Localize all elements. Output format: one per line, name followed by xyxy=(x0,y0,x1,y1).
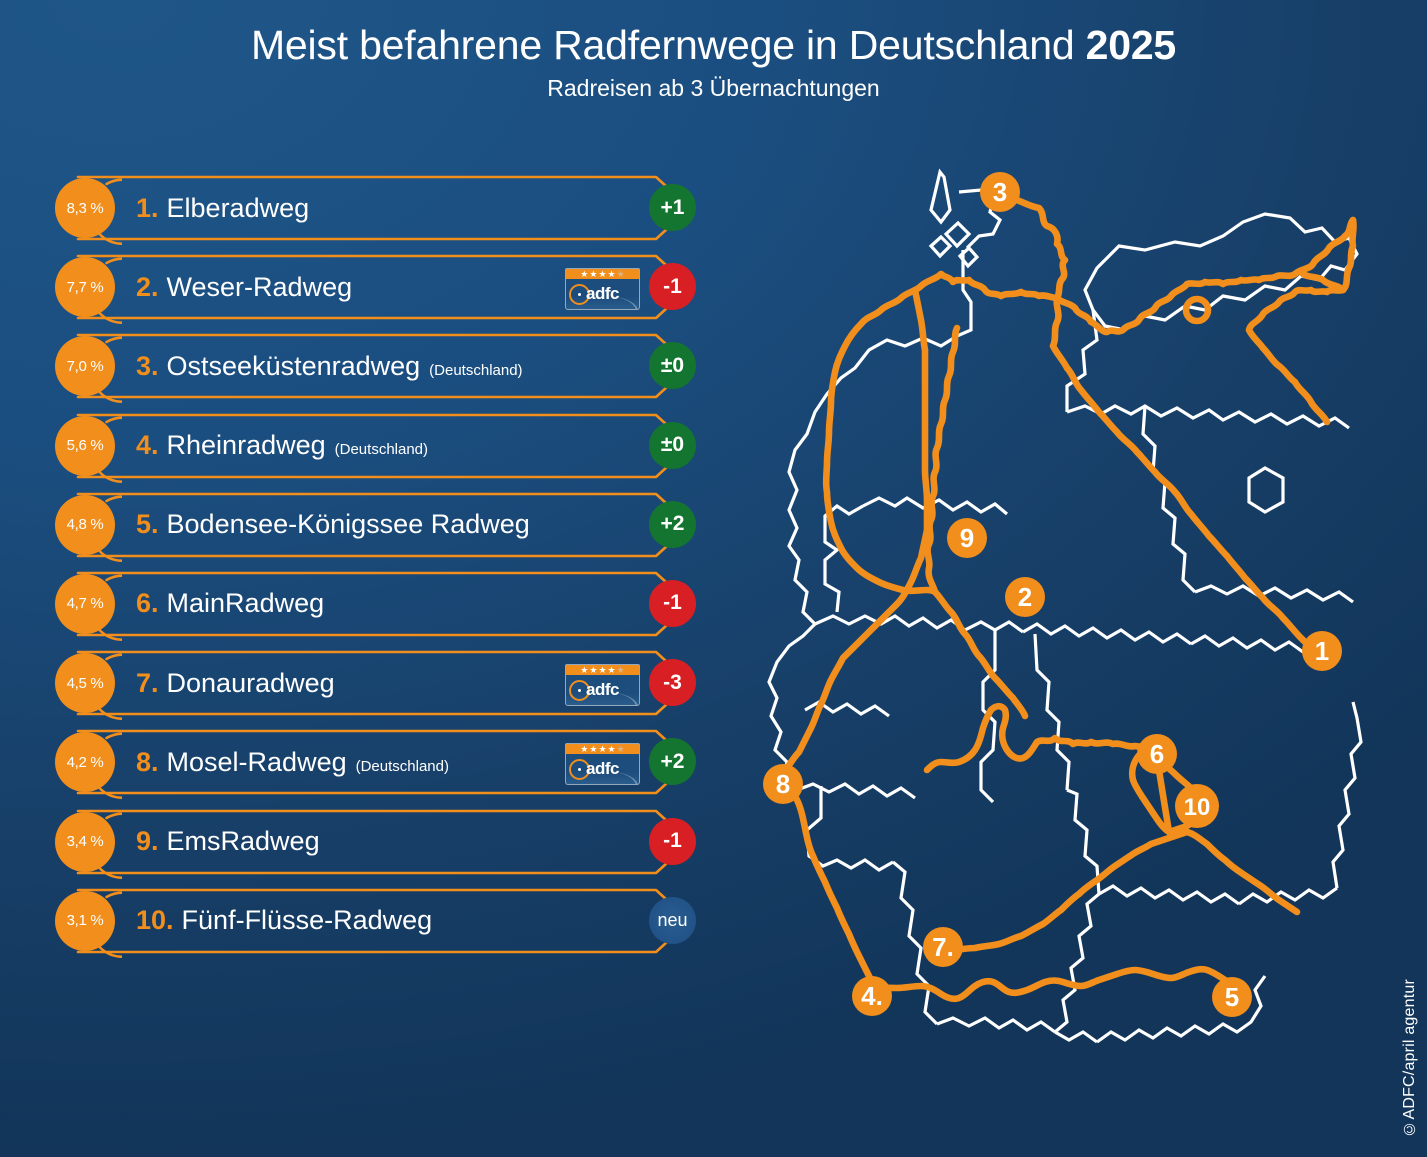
star-icon: ★ xyxy=(617,270,625,279)
rank-number: 9. xyxy=(136,826,159,857)
ranking-row: 4,5 %7.Donauradweg★★★★★adfc-3 xyxy=(48,649,748,717)
star-icon: ★ xyxy=(580,666,588,675)
ranking-row: 3,1 %10.Fünf-Flüsse-Radwegneu xyxy=(48,887,748,955)
star-icon: ★ xyxy=(580,745,588,754)
route-label: 6.MainRadweg xyxy=(136,570,324,638)
adfc-stars-bar: ★★★★★ xyxy=(565,743,640,754)
ranking-row: 4,8 %5.Bodensee-Königssee Radweg+2 xyxy=(48,491,748,559)
star-icon: ★ xyxy=(598,745,606,754)
adfc-panel: adfc xyxy=(565,675,640,706)
percent-badge: 3,1 % xyxy=(55,891,115,951)
rank-number: 10. xyxy=(136,905,174,936)
route-name: Elberadweg xyxy=(167,193,310,224)
percent-badge: 4,7 % xyxy=(55,574,115,634)
route-label: 9.EmsRadweg xyxy=(136,808,320,876)
route-label: 5.Bodensee-Königssee Radweg xyxy=(136,491,530,559)
ranking-row: 4,2 %8.Mosel-Radweg(Deutschland)★★★★★adf… xyxy=(48,728,748,796)
rank-number: 5. xyxy=(136,509,159,540)
page-title: Meist befahrene Radfernwege in Deutschla… xyxy=(0,22,1427,69)
percent-badge: 7,7 % xyxy=(55,257,115,317)
route-name-suffix: (Deutschland) xyxy=(335,441,428,458)
page-subtitle: Radreisen ab 3 Übernachtungen xyxy=(0,75,1427,102)
germany-map: 392161087.4.5 xyxy=(745,150,1365,1040)
ranking-list: 8,3 %1.Elberadweg+17,7 %2.Weser-Radweg★★… xyxy=(48,174,748,964)
title-main-text: Meist befahrene Radfernwege in Deutschla… xyxy=(251,22,1086,68)
route-label: 4.Rheinradweg(Deutschland) xyxy=(136,412,428,480)
ranking-row: 3,4 %9.EmsRadweg-1 xyxy=(48,808,748,876)
star-icon: ★ xyxy=(598,270,606,279)
map-marker-label: 8 xyxy=(776,769,790,799)
adfc-panel: adfc xyxy=(565,754,640,785)
rank-number: 3. xyxy=(136,351,159,382)
adfc-panel: adfc xyxy=(565,279,640,310)
route-name: Bodensee-Königssee Radweg xyxy=(167,509,530,540)
adfc-quality-badge: ★★★★★adfc xyxy=(565,743,640,785)
map-marker-label: 10 xyxy=(1184,794,1211,821)
map-marker-label: 3 xyxy=(993,177,1007,207)
percent-badge: 3,4 % xyxy=(55,812,115,872)
adfc-stars-bar: ★★★★★ xyxy=(565,268,640,279)
rank-number: 2. xyxy=(136,272,159,303)
rank-change-badge: ±0 xyxy=(649,422,696,469)
route-label: 3.Ostseeküstenradweg(Deutschland) xyxy=(136,332,523,400)
rank-number: 6. xyxy=(136,588,159,619)
star-icon: ★ xyxy=(589,666,597,675)
percent-badge: 8,3 % xyxy=(55,178,115,238)
route-label: 1.Elberadweg xyxy=(136,174,309,242)
rank-change-badge: +2 xyxy=(649,501,696,548)
ranking-row: 4,7 %6.MainRadweg-1 xyxy=(48,570,748,638)
header: Meist befahrene Radfernwege in Deutschla… xyxy=(0,0,1427,102)
star-icon: ★ xyxy=(580,270,588,279)
route-label: 8.Mosel-Radweg(Deutschland) xyxy=(136,728,449,796)
star-icon: ★ xyxy=(617,666,625,675)
adfc-wordmark: adfc xyxy=(586,759,619,779)
percent-badge: 7,0 % xyxy=(55,336,115,396)
ranking-row: 8,3 %1.Elberadweg+1 xyxy=(48,174,748,242)
rank-change-badge: +1 xyxy=(649,184,696,231)
percent-badge: 4,8 % xyxy=(55,495,115,555)
adfc-quality-badge: ★★★★★adfc xyxy=(565,664,640,706)
map-marker-label: 2 xyxy=(1018,582,1032,612)
route-label: 10.Fünf-Flüsse-Radweg xyxy=(136,887,432,955)
map-marker-label: 7. xyxy=(932,932,954,962)
rank-number: 8. xyxy=(136,747,159,778)
map-marker-label: 4. xyxy=(861,981,883,1011)
cycle-routes xyxy=(783,196,1354,1012)
star-icon: ★ xyxy=(589,745,597,754)
adfc-stars-bar: ★★★★★ xyxy=(565,664,640,675)
route-name: Donauradweg xyxy=(167,668,335,699)
title-year-text: 2025 xyxy=(1086,22,1176,68)
ranking-row: 7,7 %2.Weser-Radweg★★★★★adfc-1 xyxy=(48,253,748,321)
adfc-wordmark: adfc xyxy=(586,680,619,700)
route-name-suffix: (Deutschland) xyxy=(429,362,522,379)
star-icon: ★ xyxy=(608,745,616,754)
map-marker-label: 6 xyxy=(1150,739,1164,769)
route-name: Weser-Radweg xyxy=(167,272,353,303)
percent-badge: 5,6 % xyxy=(55,416,115,476)
adfc-quality-badge: ★★★★★adfc xyxy=(565,268,640,310)
map-marker-label: 9 xyxy=(960,523,974,553)
star-icon: ★ xyxy=(608,270,616,279)
star-icon: ★ xyxy=(608,666,616,675)
route-name: EmsRadweg xyxy=(167,826,320,857)
percent-badge: 4,2 % xyxy=(55,732,115,792)
route-label: 7.Donauradweg xyxy=(136,649,335,717)
ranking-row: 5,6 %4.Rheinradweg(Deutschland)±0 xyxy=(48,412,748,480)
rank-number: 1. xyxy=(136,193,159,224)
route-name-suffix: (Deutschland) xyxy=(356,758,449,775)
copyright-credit: ©ADFC/april agentur xyxy=(1401,979,1419,1137)
route-name: Mosel-Radweg xyxy=(167,747,347,778)
map-marker-label: 1 xyxy=(1315,636,1329,666)
rank-change-badge: -1 xyxy=(649,818,696,865)
route-label: 2.Weser-Radweg xyxy=(136,253,352,321)
rank-change-badge: -3 xyxy=(649,659,696,706)
rank-number: 7. xyxy=(136,668,159,699)
route-name: MainRadweg xyxy=(167,588,325,619)
map-marker-label: 5 xyxy=(1225,982,1239,1012)
rank-change-badge: +2 xyxy=(649,738,696,785)
route-name: Fünf-Flüsse-Radweg xyxy=(182,905,433,936)
route-name: Rheinradweg xyxy=(167,430,326,461)
star-icon: ★ xyxy=(617,745,625,754)
rank-change-badge: neu xyxy=(649,897,696,944)
rank-change-badge: -1 xyxy=(649,263,696,310)
adfc-wordmark: adfc xyxy=(586,284,619,304)
ranking-row: 7,0 %3.Ostseeküstenradweg(Deutschland)±0 xyxy=(48,332,748,400)
rank-change-badge: -1 xyxy=(649,580,696,627)
rank-number: 4. xyxy=(136,430,159,461)
star-icon: ★ xyxy=(598,666,606,675)
percent-badge: 4,5 % xyxy=(55,653,115,713)
route-name: Ostseeküstenradweg xyxy=(167,351,421,382)
star-icon: ★ xyxy=(589,270,597,279)
map-svg: 392161087.4.5 xyxy=(745,150,1365,1040)
